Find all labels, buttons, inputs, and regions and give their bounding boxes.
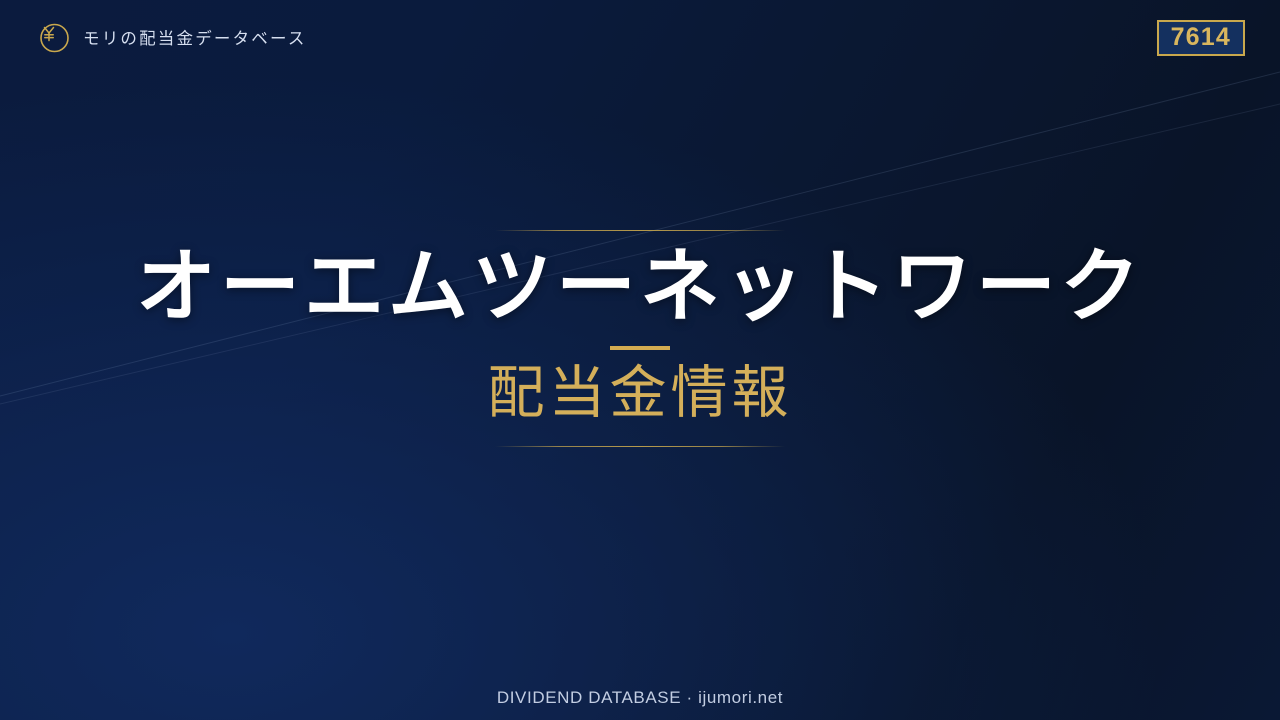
title-card: モリの配当金データベース 7614 オーエムツーネットワーク 配当金情報 DIV…: [0, 0, 1280, 720]
page-subtitle: 配当金情報: [488, 362, 793, 425]
brand-name: モリの配当金データベース: [83, 25, 307, 49]
yen-circle-icon: [36, 20, 70, 54]
hero-block: オーエムツーネットワーク 配当金情報: [0, 230, 1280, 447]
company-title: オーエムツーネットワーク: [136, 245, 1144, 332]
ticker-badge: 7614: [1157, 20, 1245, 56]
divider-top: [495, 230, 785, 231]
site-header: モリの配当金データベース 7614: [0, 0, 1280, 74]
divider-bottom: [495, 446, 785, 447]
site-footer: DIVIDEND DATABASE · ijumori.net: [0, 688, 1280, 708]
gold-accent-bar: [610, 346, 670, 350]
brand[interactable]: モリの配当金データベース: [36, 20, 307, 54]
footer-text: DIVIDEND DATABASE · ijumori.net: [497, 688, 783, 707]
